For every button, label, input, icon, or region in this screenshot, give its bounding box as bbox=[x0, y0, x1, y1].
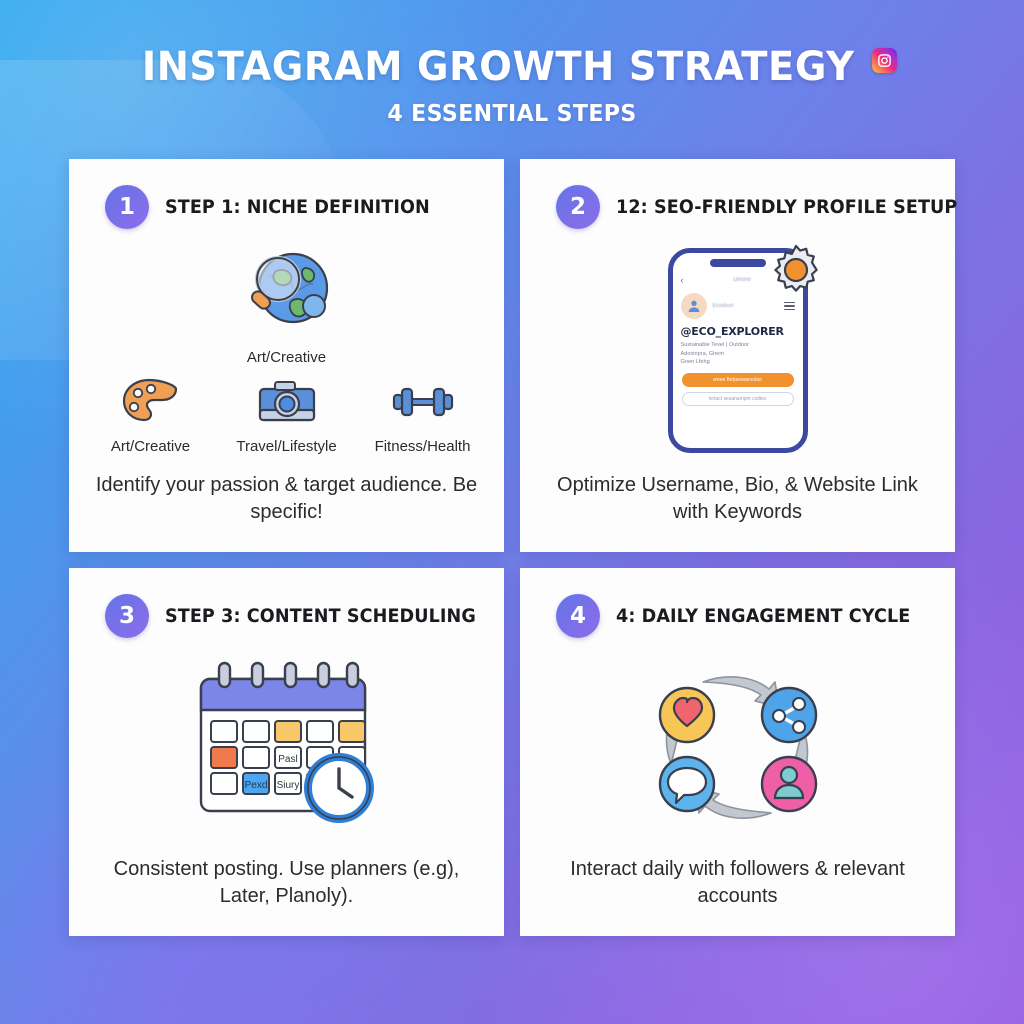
gear-icon bbox=[768, 242, 824, 303]
card-description: Consistent posting. Use planners (e.g), … bbox=[91, 856, 482, 916]
calendar-cell-label: Siury bbox=[276, 780, 299, 791]
calendar-icon: Pasl Pexd Siury bbox=[187, 659, 387, 836]
card-illustration: Pasl Pexd Siury bbox=[91, 638, 482, 856]
step-number-badge: 2 bbox=[556, 185, 600, 229]
card-header: 2 12: SEO-FRIENDLY PROFILE SETUP bbox=[542, 185, 933, 229]
card-illustration: ‹ Dnsno Ecssbori bbox=[542, 229, 933, 472]
hero-label: Art/Creative bbox=[247, 349, 326, 366]
profile-username: @ECO_EXPLORER bbox=[679, 323, 797, 341]
engagement-cycle-icon bbox=[645, 662, 831, 833]
step-number-badge: 4 bbox=[556, 594, 600, 638]
camera-icon bbox=[255, 376, 319, 433]
niche-label: Fitness/Health bbox=[375, 438, 471, 455]
step-card-3: 3 STEP 3: CONTENT SCHEDULING bbox=[69, 568, 504, 936]
card-description: Interact daily with followers & relevant… bbox=[542, 856, 933, 916]
bio-line: Adoxinpra, Ghem bbox=[681, 350, 795, 359]
palette-icon bbox=[119, 376, 183, 433]
step-number-badge: 3 bbox=[105, 594, 149, 638]
smartphone-icon: ‹ Dnsno Ecssbori bbox=[668, 248, 808, 453]
title-row: INSTAGRAM GROWTH STRATEGY bbox=[0, 44, 1024, 90]
card-title: STEP 1: NICHE DEFINITION bbox=[165, 197, 430, 218]
phone-notch bbox=[710, 259, 766, 267]
calendar-cell-label: Pexd bbox=[244, 780, 267, 791]
hamburger-menu-icon bbox=[784, 302, 795, 310]
niche-list: Art/Creative bbox=[95, 376, 479, 455]
card-description: Identify your passion & target audience.… bbox=[91, 472, 482, 532]
step-card-1: 1 STEP 1: NICHE DEFINITION bbox=[69, 159, 504, 552]
dumbbell-icon bbox=[391, 376, 455, 433]
card-header: 4 4: DAILY ENGAGEMENT CYCLE bbox=[542, 594, 933, 638]
clock-icon bbox=[308, 757, 370, 819]
card-title: STEP 3: CONTENT SCHEDULING bbox=[165, 606, 476, 627]
step-card-4: 4 4: DAILY ENGAGEMENT CYCLE bbox=[520, 568, 955, 936]
secondary-link-button[interactable]: Ivrtact sesanampm cxdtes bbox=[682, 392, 794, 406]
niche-label: Travel/Lifestyle bbox=[236, 438, 336, 455]
card-description: Optimize Username, Bio, & Website Link w… bbox=[542, 472, 933, 532]
page-subtitle: 4 ESSENTIAL STEPS bbox=[20, 101, 1003, 127]
niche-item-travel: Travel/Lifestyle bbox=[231, 376, 343, 455]
card-title: 12: SEO-FRIENDLY PROFILE SETUP bbox=[616, 197, 957, 218]
instagram-icon bbox=[872, 48, 897, 73]
chevron-left-icon: ‹ bbox=[681, 275, 684, 285]
globe-magnifier-icon bbox=[231, 246, 343, 347]
step-number-badge: 1 bbox=[105, 185, 149, 229]
user-avatar-icon bbox=[681, 293, 707, 319]
card-illustration bbox=[542, 638, 933, 856]
card-header: 1 STEP 1: NICHE DEFINITION bbox=[91, 185, 482, 229]
card-header: 3 STEP 3: CONTENT SCHEDULING bbox=[91, 594, 482, 638]
poster-header: INSTAGRAM GROWTH STRATEGY 4 ESSENTIAL ST… bbox=[0, 0, 1024, 127]
niche-item-art: Art/Creative bbox=[95, 376, 207, 455]
niche-item-fitness: Fitness/Health bbox=[367, 376, 479, 455]
handle-placeholder: Ecssbori bbox=[713, 303, 778, 309]
infographic-poster: INSTAGRAM GROWTH STRATEGY 4 ESSENTIAL ST… bbox=[0, 0, 1024, 1024]
share-node bbox=[762, 688, 816, 742]
primary-cta-button[interactable]: wnee ftebanwarvutso bbox=[682, 373, 794, 387]
card-illustration: Art/Creative Art/Crea bbox=[91, 229, 482, 472]
niche-label: Art/Creative bbox=[111, 438, 190, 455]
bio-line: Gnen Lfehg bbox=[681, 358, 795, 367]
card-title: 4: DAILY ENGAGEMENT CYCLE bbox=[616, 606, 910, 627]
steps-grid: 1 STEP 1: NICHE DEFINITION bbox=[0, 159, 1024, 936]
page-title: INSTAGRAM GROWTH STRATEGY bbox=[142, 44, 855, 90]
step-card-2: 2 12: SEO-FRIENDLY PROFILE SETUP ‹ Dnsno bbox=[520, 159, 955, 552]
calendar-cell-label: Pasl bbox=[278, 754, 297, 765]
profile-bio: Sustainable Tevel | Outdoor Adoxinpra, G… bbox=[679, 341, 797, 367]
bio-line: Sustainable Tevel | Outdoor bbox=[681, 341, 795, 350]
